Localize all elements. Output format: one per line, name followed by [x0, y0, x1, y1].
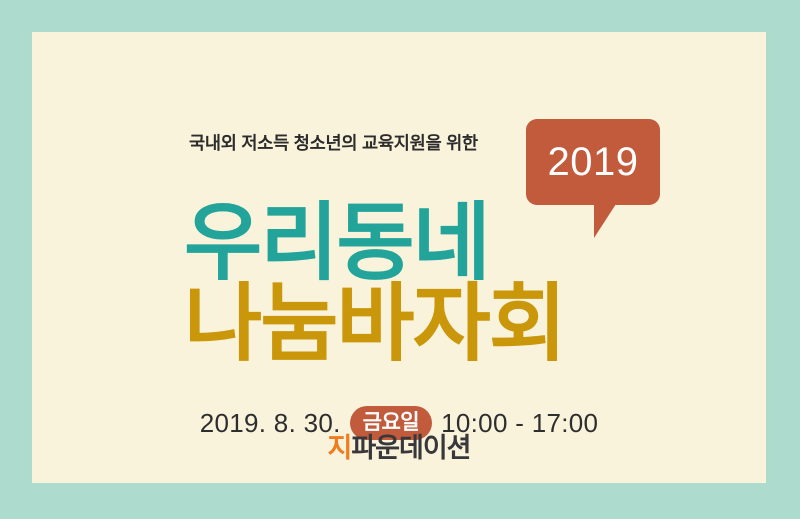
organization-logo: 지 파운데이션: [32, 435, 766, 462]
logo-wordmark: 파운데이션: [351, 435, 470, 462]
year-speech-bubble: 2019: [526, 119, 666, 249]
speech-bubble-tail-icon: [594, 204, 616, 238]
poster-inner-panel: 국내외 저소득 청소년의 교육지원을 위한 2019 우리동네 나눔바자회 20…: [32, 32, 766, 483]
poster-title-line-2: 나눔바자회: [184, 282, 565, 367]
event-poster: 국내외 저소득 청소년의 교육지원을 위한 2019 우리동네 나눔바자회 20…: [0, 0, 800, 519]
year-label: 2019: [526, 119, 660, 205]
poster-title-line-1: 우리동네: [184, 201, 489, 286]
event-date: 2019. 8. 30.: [200, 410, 341, 436]
poster-tagline: 국내외 저소득 청소년의 교육지원을 위한: [189, 130, 478, 155]
logo-mark-icon: 지: [327, 435, 351, 462]
